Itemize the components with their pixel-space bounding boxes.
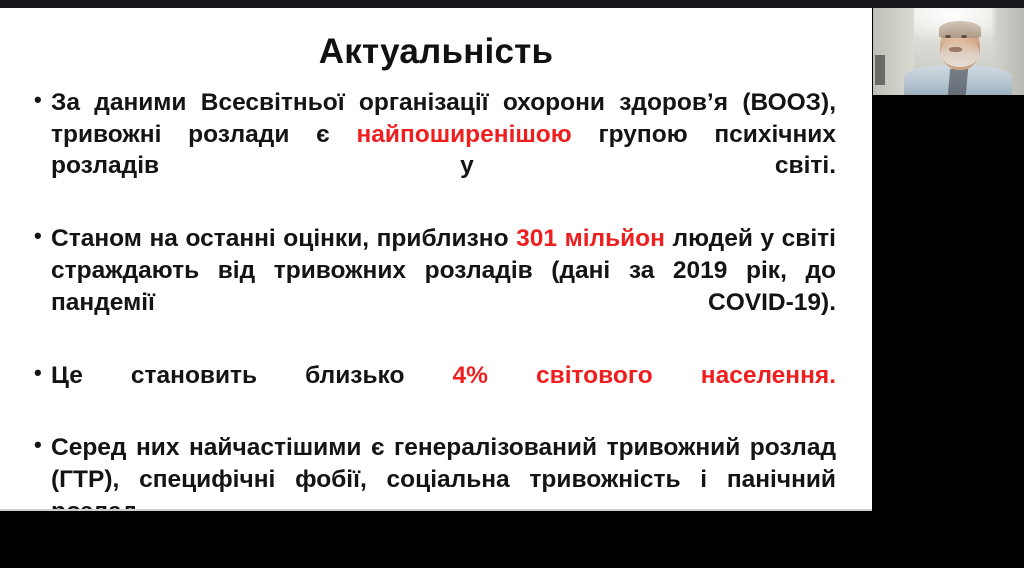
bottom-black-filler [0, 511, 1024, 568]
bullet-4-percent: Це становить близько 4% світового населе… [34, 360, 836, 424]
bullet-text: Це становить близько 4% світового населе… [51, 362, 836, 389]
bullet-who-prevalence: За даними Всесвітньої організації охорон… [34, 87, 836, 214]
bullet-common-types: Серед них найчастішими є генералізований… [34, 432, 836, 511]
top-letterbox-band [0, 0, 1024, 8]
bullet-text: Серед них найчастішими є генералізований… [51, 434, 836, 511]
webcam-video-feed [873, 8, 1024, 95]
presentation-slide: Актуальність За даними Всесвітньої орган… [0, 8, 872, 511]
bullet-301-million: Станом на останні оцінки, приблизно 301 … [34, 223, 836, 350]
webcam-background-doorframe [875, 55, 885, 85]
webcam-person-eye-right [961, 35, 967, 38]
bullet-text: Станом на останні оцінки, приблизно 301 … [51, 225, 836, 316]
webcam-person-beard [941, 41, 979, 67]
highlighted-phrase: найпоширенішою [356, 121, 571, 148]
presenter-webcam-tile[interactable] [873, 8, 1024, 95]
webcam-person-eye-left [945, 35, 951, 38]
highlighted-phrase: 4% світового населення. [453, 362, 836, 389]
highlighted-phrase: 301 мільйон [516, 225, 665, 252]
page-title: Актуальність [0, 8, 872, 79]
webcam-person-mouth [949, 47, 962, 52]
plain-phrase: Станом на останні оцінки, приблизно [51, 225, 516, 252]
bullet-text: За даними Всесвітньої організації охорон… [51, 89, 836, 180]
plain-phrase: Серед них найчастішими є генералізований… [51, 434, 836, 511]
right-black-filler [872, 95, 1024, 568]
slide-bullet-list: За даними Всесвітньої організації охорон… [0, 79, 872, 511]
webcam-person-collar [947, 69, 967, 95]
plain-phrase: Це становить близько [51, 362, 453, 389]
screen-share-view: Актуальність За даними Всесвітньої орган… [0, 0, 1024, 568]
